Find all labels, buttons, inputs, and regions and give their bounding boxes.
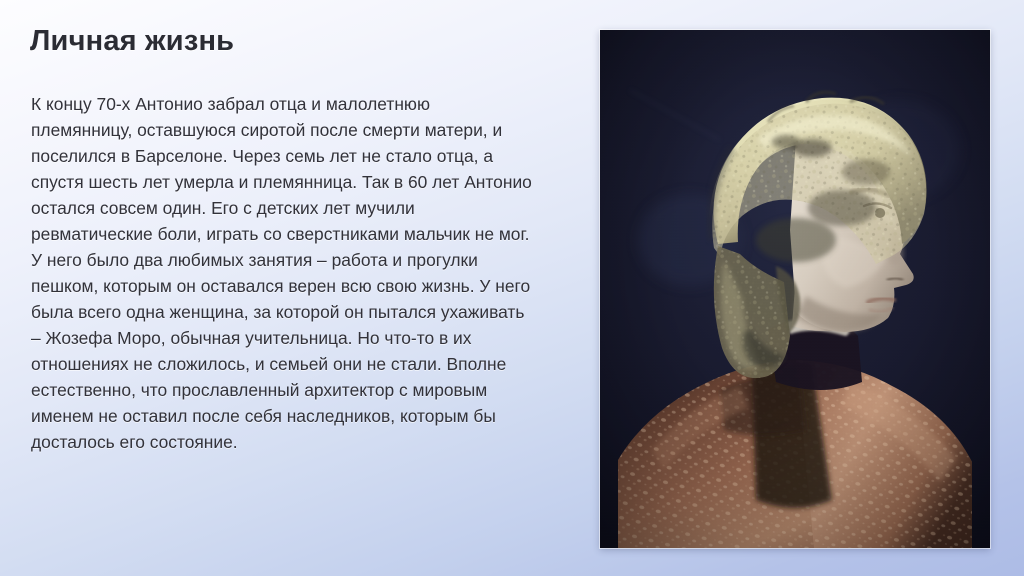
slide: Личная жизнь К концу 70-х Антонио забрал… xyxy=(0,0,1024,576)
page-title: Личная жизнь xyxy=(30,25,570,58)
body-paragraph: К концу 70-х Антонио забрал отца и малол… xyxy=(31,91,536,455)
portrait-photo xyxy=(600,30,990,548)
portrait-illustration xyxy=(600,30,990,548)
